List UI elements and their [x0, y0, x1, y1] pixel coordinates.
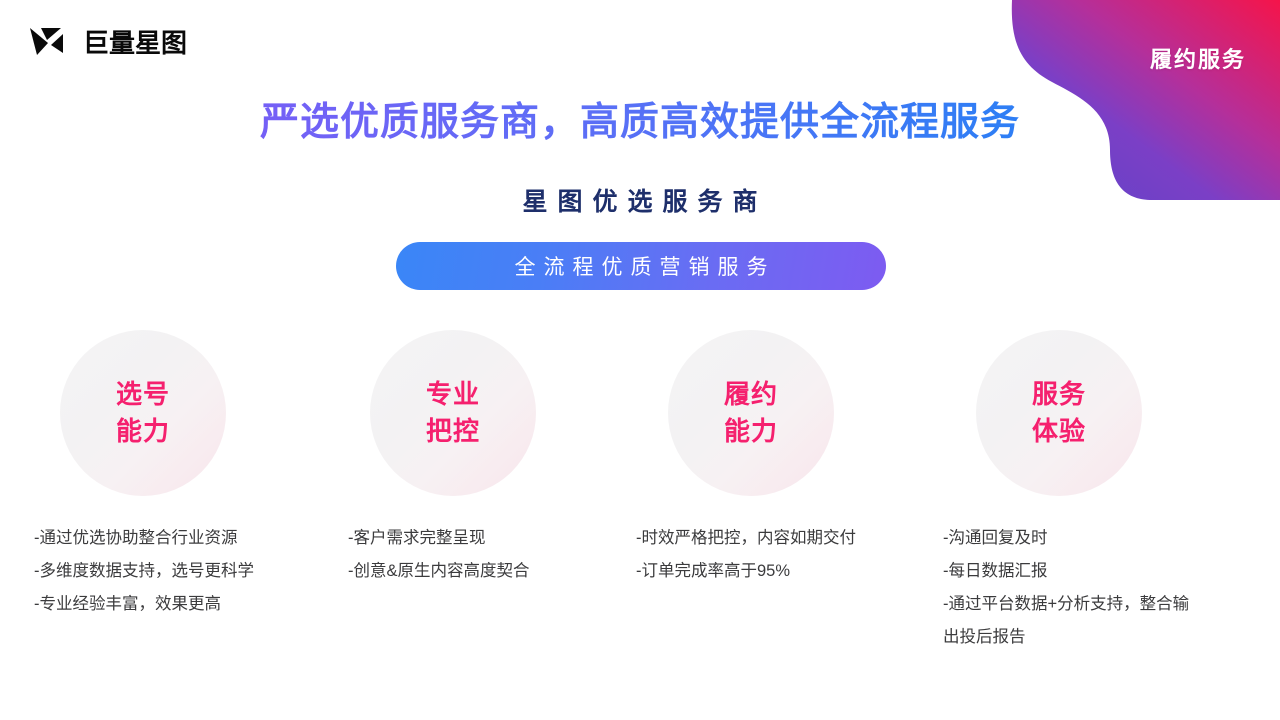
feature-circle-line: 能力	[116, 413, 170, 450]
service-pill-label: 全流程优质营销服务	[507, 251, 776, 281]
feature-bullet-list: -沟通回复及时 -每日数据汇报 -通过平台数据+分析支持，整合输出投后报告	[938, 522, 1238, 654]
feature-circle-line: 选号	[116, 376, 170, 413]
feature-columns: 选号 能力 -通过优选协助整合行业资源 -多维度数据支持，选号更科学 -专业经验…	[0, 330, 1280, 710]
list-item: -时效严格把控，内容如期交付	[636, 522, 930, 555]
list-item: -客户需求完整呈现	[348, 522, 640, 555]
list-item: -创意&原生内容高度契合	[348, 555, 640, 588]
feature-circle-line: 服务	[1032, 376, 1086, 413]
list-item: -每日数据汇报	[943, 555, 1238, 588]
feature-circle: 选号 能力	[60, 330, 226, 496]
feature-circle-line: 专业	[426, 376, 480, 413]
service-pill-banner: 全流程优质营销服务	[396, 242, 886, 290]
feature-circle: 专业 把控	[370, 330, 536, 496]
juliang-xingtu-x-mark-icon	[28, 26, 74, 60]
page-subtitle: 星图优选服务商	[0, 182, 1280, 218]
feature-column: 履约 能力 -时效严格把控，内容如期交付 -订单完成率高于95%	[630, 330, 930, 588]
brand-logo: 巨量星图	[28, 26, 187, 60]
feature-circle-line: 体验	[1032, 413, 1086, 450]
feature-circle: 服务 体验	[976, 330, 1142, 496]
feature-bullet-list: -时效严格把控，内容如期交付 -订单完成率高于95%	[630, 522, 930, 588]
corner-badge-label: 履约服务	[1150, 42, 1246, 74]
slide-canvas: 履约服务 巨量星图 严选优质服务商，高质高效提供全流程服务 星图优选服务商 全流…	[0, 0, 1280, 720]
feature-column: 专业 把控 -客户需求完整呈现 -创意&原生内容高度契合	[340, 330, 640, 588]
page-title: 严选优质服务商，高质高效提供全流程服务	[0, 91, 1280, 147]
list-item: -多维度数据支持，选号更科学	[34, 555, 328, 588]
feature-circle-line: 把控	[426, 413, 480, 450]
feature-circle-line: 履约	[724, 376, 778, 413]
brand-logo-text: 巨量星图	[83, 30, 187, 56]
list-item: -沟通回复及时	[943, 522, 1238, 555]
list-item: -通过优选协助整合行业资源	[34, 522, 328, 555]
list-item: -专业经验丰富，效果更高	[34, 588, 328, 621]
feature-bullet-list: -客户需求完整呈现 -创意&原生内容高度契合	[340, 522, 640, 588]
feature-column: 选号 能力 -通过优选协助整合行业资源 -多维度数据支持，选号更科学 -专业经验…	[28, 330, 328, 621]
list-item: -通过平台数据+分析支持，整合输出投后报告	[943, 588, 1193, 654]
list-item: -订单完成率高于95%	[636, 555, 930, 588]
feature-bullet-list: -通过优选协助整合行业资源 -多维度数据支持，选号更科学 -专业经验丰富，效果更…	[28, 522, 328, 621]
feature-circle: 履约 能力	[668, 330, 834, 496]
feature-circle-line: 能力	[724, 413, 778, 450]
feature-column: 服务 体验 -沟通回复及时 -每日数据汇报 -通过平台数据+分析支持，整合输出投…	[938, 330, 1238, 654]
